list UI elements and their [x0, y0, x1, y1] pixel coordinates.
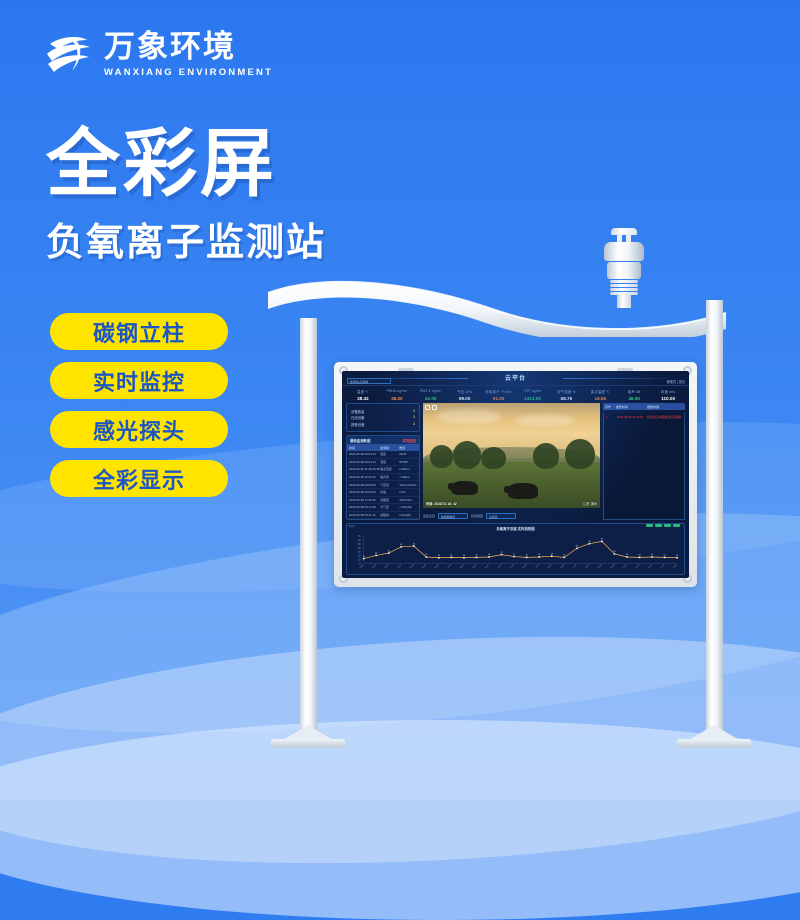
- display-screen: 云平台 管理员 | 退出 监测站点选择 温度 ℃PM10 ug/m³PM2.5 …: [334, 362, 697, 587]
- support-post-right: [706, 300, 723, 738]
- video-controls: 监控点位 前端摄像机 码流类型 主码流: [423, 511, 600, 520]
- svg-text:16: 16: [488, 554, 491, 556]
- svg-text:16: 16: [425, 554, 428, 556]
- table-body: 2022-06-28 09:31:13温度28.872022-06-28 09:…: [347, 451, 419, 519]
- svg-text:10: 10: [358, 558, 361, 561]
- chart-legend-toggles[interactable]: [646, 524, 680, 527]
- alarm-panel: 序号 报警时间 报警内容 1 2022-06-28 11:31:16 负氧离子浓…: [603, 403, 685, 520]
- video-toolbar[interactable]: [425, 405, 437, 410]
- tree: [430, 445, 453, 468]
- left-panel: 设备数量 1 在线设备 1 报警设备 1 最新监测数据 实时监: [346, 403, 420, 520]
- video-watermark: 山东 滨州: [583, 501, 597, 506]
- user-menu[interactable]: 管理员 | 退出: [666, 379, 685, 384]
- svg-text:20:00: 20:00: [610, 564, 615, 569]
- cloud-platform-dashboard: 云平台 管理员 | 退出 监测站点选择 温度 ℃PM10 ug/m³PM2.5 …: [342, 371, 689, 578]
- station-select[interactable]: 监测站点选择: [347, 378, 391, 384]
- camera-select[interactable]: 前端摄像机: [438, 513, 468, 519]
- alarm-row[interactable]: 1 2022-06-28 11:31:16 负氧离子浓度超过设定阈值，请注意: [604, 413, 684, 420]
- svg-text:18:00: 18:00: [585, 564, 590, 569]
- cloud: [515, 414, 575, 427]
- svg-text:08:00: 08:00: [460, 564, 465, 569]
- svg-text:21:00: 21:00: [623, 564, 628, 569]
- tree: [565, 439, 595, 469]
- cow: [508, 483, 538, 499]
- svg-text:16: 16: [651, 554, 654, 556]
- svg-text:70: 70: [358, 535, 361, 538]
- svg-text:50: 50: [588, 541, 591, 543]
- svg-text:14: 14: [676, 555, 679, 557]
- table-row[interactable]: 2022-06-28 10:52:31噪声值1.09kpa: [347, 474, 419, 482]
- table-row[interactable]: 2022-06-28 09:31:13湿度58.587: [347, 459, 419, 467]
- metric-value: 38.00: [380, 394, 414, 401]
- svg-text:09:00: 09:00: [472, 564, 477, 569]
- video-panel: 时间: 2022/7/1 16: 42 山东 滨州 监控点位 前端摄像机 码流类…: [423, 403, 600, 520]
- tree: [481, 447, 506, 469]
- base-plate-right: [677, 728, 751, 748]
- dashboard-body: 设备数量 1 在线设备 1 报警设备 1 最新监测数据 实时监: [342, 403, 689, 523]
- dashboard-title: 云平台: [342, 373, 689, 382]
- svg-text:15:00: 15:00: [548, 564, 553, 569]
- dashboard-header: 云平台 管理员 | 退出 监测站点选择: [342, 371, 689, 386]
- svg-text:60: 60: [358, 539, 361, 542]
- svg-text:22: 22: [500, 552, 503, 554]
- svg-text:24: 24: [613, 551, 616, 553]
- svg-text:12: 12: [362, 556, 365, 558]
- svg-text:01:00: 01:00: [372, 564, 377, 569]
- svg-text:17: 17: [513, 554, 516, 556]
- stream-select[interactable]: 主码流: [486, 513, 516, 519]
- svg-text:14: 14: [438, 555, 441, 557]
- svg-text:22:00: 22:00: [635, 564, 640, 569]
- chart-title: 负氧离子浓度 实时趋势图: [350, 526, 681, 531]
- svg-text:16: 16: [538, 554, 541, 556]
- tree: [533, 443, 560, 469]
- stat-row: 报警设备 1: [351, 422, 415, 427]
- canopy-beam: [262, 279, 732, 337]
- svg-text:17:00: 17:00: [573, 564, 578, 569]
- svg-text:42: 42: [400, 544, 403, 546]
- realtime-monitor-link[interactable]: 实时监控: [402, 438, 416, 443]
- metric-value: 28.32: [346, 394, 380, 401]
- svg-text:19:00: 19:00: [598, 564, 603, 569]
- svg-text:20: 20: [358, 555, 361, 558]
- alarm-list: 1 2022-06-28 11:31:16 负氧离子浓度超过设定阈值，请注意: [603, 413, 685, 520]
- svg-text:12:00: 12:00: [510, 564, 515, 569]
- latest-data-table: 最新监测数据 实时监控 时间 监测项 数值 2022-06-28 09:31:1…: [346, 435, 420, 520]
- svg-text:38: 38: [576, 546, 579, 548]
- table-header: 时间 监测项 数值: [347, 444, 419, 451]
- svg-text:07:00: 07:00: [447, 564, 452, 569]
- svg-text:15: 15: [663, 555, 666, 557]
- svg-text:15: 15: [638, 555, 641, 557]
- device-stats: 设备数量 1 在线设备 1 报警设备 1: [346, 403, 420, 432]
- svg-text:0: 0: [359, 562, 361, 565]
- metric-value: 98.00: [448, 394, 482, 401]
- svg-text:13:00: 13:00: [522, 564, 527, 569]
- metric-value: 58.75: [549, 394, 583, 401]
- stat-row: 在线设备 1: [351, 415, 415, 420]
- svg-text:16: 16: [626, 554, 629, 556]
- trend-chart: 个/cm³ 负氧离子浓度 实时趋势图 0102030405060701200:0…: [346, 523, 685, 575]
- svg-text:18: 18: [551, 553, 554, 555]
- table-row[interactable]: 2022-06-28 11:18:40:38露点温度0.38mm: [347, 466, 419, 474]
- video-timestamp: 时间: 2022/7/1 16: 42: [426, 501, 457, 506]
- table-row[interactable]: 2022-06-28 09:31:13温度28.87: [347, 451, 419, 459]
- chart-unit-label: 个/cm³: [348, 524, 355, 528]
- metric-value: 46.00: [617, 394, 651, 401]
- metric-value: 110.00: [651, 394, 685, 401]
- support-post-left: [300, 318, 317, 738]
- chart-plot-area: 0102030405060701200:002001:002602:004203…: [350, 533, 681, 572]
- svg-text:11:00: 11:00: [498, 564, 503, 569]
- cloud: [437, 409, 501, 424]
- table-titlebar: 最新监测数据 实时监控: [347, 436, 419, 444]
- svg-text:23:30: 23:30: [660, 564, 665, 569]
- table-title: 最新监测数据: [350, 438, 370, 443]
- metric-value: 1413.00: [516, 394, 550, 401]
- svg-text:16:00: 16:00: [560, 564, 565, 569]
- cow: [451, 481, 478, 496]
- metric-value: 41.00: [414, 394, 448, 401]
- table-row[interactable]: 2022-06-28 09:06:05气压值1010.1bar/hb: [347, 481, 419, 489]
- table-row[interactable]: 2022-06-28 09:12:09大气压1.15w/bar: [347, 504, 419, 512]
- svg-text:03:00: 03:00: [397, 564, 402, 569]
- svg-text:23:00: 23:00: [648, 564, 653, 569]
- svg-text:40: 40: [358, 547, 361, 550]
- svg-text:15: 15: [526, 555, 529, 557]
- svg-text:10:00: 10:00: [485, 564, 490, 569]
- svg-text:15: 15: [450, 555, 453, 557]
- table-row[interactable]: 2022-06-28 09:11:13总辐射0.4ku/g8: [347, 512, 419, 519]
- svg-text:05:00: 05:00: [422, 564, 427, 569]
- svg-text:44: 44: [413, 543, 416, 545]
- table-row[interactable]: 2022-06-28 09:06:34风速2.6m: [347, 489, 419, 497]
- svg-text:23:45: 23:45: [673, 564, 678, 569]
- table-row[interactable]: 2022-06-28 17:05:35光照度1100.01ul: [347, 497, 419, 505]
- camera-capture-icon[interactable]: [425, 405, 430, 410]
- metric-value: 18.56: [583, 394, 617, 401]
- base-plate-left: [271, 728, 345, 748]
- svg-text:02:00: 02:00: [385, 564, 390, 569]
- metric-value: 61.00: [482, 394, 516, 401]
- svg-text:30: 30: [358, 551, 361, 554]
- svg-text:04:00: 04:00: [410, 564, 415, 569]
- svg-text:14:00: 14:00: [535, 564, 540, 569]
- svg-text:20: 20: [375, 553, 378, 555]
- svg-text:15: 15: [475, 555, 478, 557]
- weather-sensor: [602, 228, 646, 306]
- svg-text:06:00: 06:00: [435, 564, 440, 569]
- tree: [453, 441, 481, 469]
- live-camera-feed[interactable]: 时间: 2022/7/1 16: 42 山东 滨州: [423, 403, 600, 508]
- stat-row: 设备数量 1: [351, 409, 415, 414]
- alarm-header: 序号 报警时间 报警内容: [603, 403, 685, 410]
- svg-text:56: 56: [601, 539, 604, 541]
- snapshot-icon[interactable]: [432, 405, 437, 410]
- metric-strip: 温度 ℃PM10 ug/m³PM2.5 ug/m³气压 kPa负氧离子 个/cm…: [342, 386, 689, 403]
- svg-text:14: 14: [463, 555, 466, 557]
- svg-text:50: 50: [358, 543, 361, 546]
